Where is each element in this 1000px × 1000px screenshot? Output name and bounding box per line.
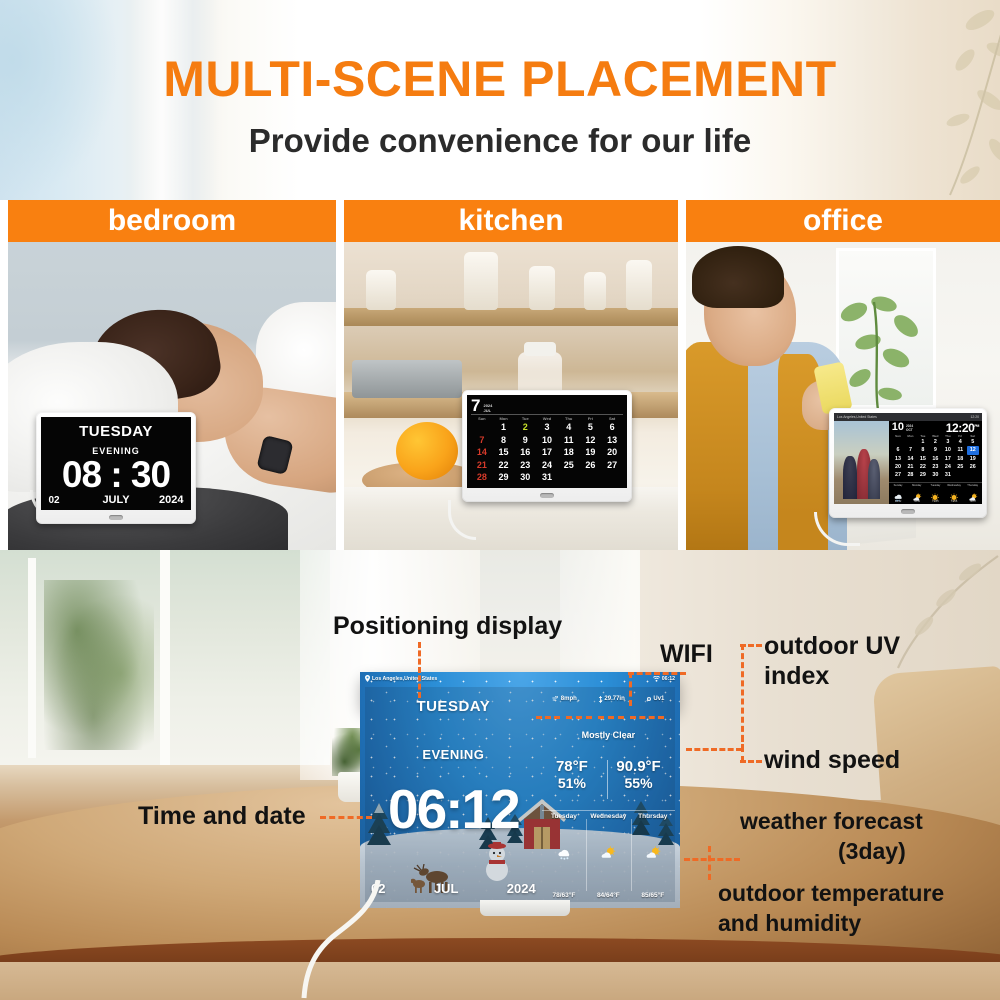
reading-indoor: 78°F 51% xyxy=(556,758,588,791)
callout-line-wind xyxy=(536,716,560,719)
office-calendar-day: 17 xyxy=(942,455,954,463)
forecast-temp: 85/65°F xyxy=(641,892,664,899)
feature-callout-scene: Los Angeles,United States 06:12 xyxy=(0,550,1000,1000)
office-calendar-day: 21 xyxy=(904,463,916,471)
device-bedroom: TUESDAY EVENING 08 : 30 02 JULY 2024 xyxy=(36,412,196,524)
office-calendar-day-empty xyxy=(967,471,979,479)
device-button[interactable] xyxy=(109,515,123,520)
annotation-outdoor-temp-humidity-line2: and humidity xyxy=(718,910,861,937)
calendar-day: 28 xyxy=(471,471,493,483)
temperature-value: 90.9°F xyxy=(616,758,660,775)
calendar-day: 14 xyxy=(471,446,493,458)
office-forecast-temp: 73/56 xyxy=(951,500,958,503)
orange-fruit xyxy=(396,422,458,480)
leader-time-date xyxy=(320,816,372,819)
forecast-day: Thursday xyxy=(638,813,667,820)
scene-photo-kitchen: 7 2024 JUL SunMonTueWedThuFriSat12345678… xyxy=(344,242,678,550)
office-photo-slideshow xyxy=(834,421,889,504)
device-office: Los Angeles,United States 12:20 xyxy=(829,408,987,518)
kitchen-calendar-screen: 7 2024 JUL SunMonTueWedThuFriSat12345678… xyxy=(467,395,627,488)
calendar-day: 11 xyxy=(558,434,580,446)
calendar-day: 24 xyxy=(536,459,558,471)
barometer-icon xyxy=(598,696,603,703)
weather-stats-row: 8mph29.77inUv1 xyxy=(542,696,675,703)
main-device: Los Angeles,United States 06:12 xyxy=(360,672,680,908)
leader-wifi-v xyxy=(629,672,632,706)
main-date-year: 2024 xyxy=(507,881,536,896)
product-infographic: MULTI-SCENE PLACEMENT Provide convenienc… xyxy=(0,0,1000,1000)
calendar-day: 22 xyxy=(493,459,515,471)
device-button[interactable] xyxy=(540,493,554,498)
office-calendar-day: 20 xyxy=(892,463,904,471)
office-calendar-day: 12 xyxy=(967,446,979,454)
office-forecast-day: Monday xyxy=(912,484,921,487)
scene-kitchen: kitchen xyxy=(344,200,678,550)
calendar-day: 7 xyxy=(471,434,493,446)
calendar-day-empty xyxy=(471,421,493,433)
scene-label-office: office xyxy=(686,200,1000,242)
scene-photo-office: Los Angeles,United States 12:20 xyxy=(686,242,1000,550)
calendar-day: 17 xyxy=(536,446,558,458)
weather-stat: Uv1 xyxy=(646,696,665,702)
device-stand xyxy=(480,900,570,916)
office-forecast-cell: Wednesday73/56 xyxy=(945,483,964,504)
main-date-month: JUL xyxy=(434,881,459,896)
scene-bedroom: bedroom TUESDAY EVENIN xyxy=(8,200,336,550)
scene-strip: bedroom TUESDAY EVENIN xyxy=(0,200,1000,550)
office-forecast-cell: Sunday68/52 xyxy=(889,483,908,504)
calendar-day: 1 xyxy=(493,421,515,433)
rain-icon xyxy=(893,489,903,498)
office-calendar-day-empty xyxy=(954,471,966,479)
temperature-value: 78°F xyxy=(556,758,588,775)
reading-divider xyxy=(607,760,608,799)
callout-line-uv xyxy=(598,716,624,719)
day-of-week: TUESDAY xyxy=(41,423,191,440)
office-calendar-day: 28 xyxy=(904,471,916,479)
weather-panel: 8mph29.77inUv1 Mostly Clear 78°F 51% 90.… xyxy=(542,687,675,902)
main-part-of-day: EVENING xyxy=(365,747,542,762)
calendar-month-number: 7 xyxy=(471,398,480,413)
office-calendar-day: 15 xyxy=(917,455,929,463)
calendar-day: 12 xyxy=(580,434,602,446)
office-forecast-cell: Monday70/54 xyxy=(907,483,926,504)
office-calendar-day: 13 xyxy=(892,455,904,463)
main-status-time: 06:12 xyxy=(662,676,675,682)
calendar-day: 2 xyxy=(514,421,536,433)
weather-stat-value: 8mph xyxy=(561,696,577,702)
power-cord xyxy=(270,880,410,1000)
location-pin-icon xyxy=(365,675,370,682)
office-calendar-day: 30 xyxy=(929,471,941,479)
date-year: 2024 xyxy=(159,494,183,506)
humidity-value: 51% xyxy=(556,775,588,791)
calendar-day: 3 xyxy=(536,421,558,433)
office-calendar-day-empty xyxy=(892,438,904,446)
leader-uv-h2 xyxy=(686,748,742,751)
calendar-day-empty xyxy=(558,471,580,483)
office-status-location: Los Angeles,United States xyxy=(837,415,877,419)
calendar-grid: SunMonTueWedThuFriSat1234567891011121314… xyxy=(471,416,623,483)
forecast-cell: Tuesday78/63°F xyxy=(542,811,586,900)
weather-stat-value: Uv1 xyxy=(653,696,664,702)
calendar-day: 15 xyxy=(493,446,515,458)
calendar-day: 9 xyxy=(514,434,536,446)
annotation-outdoor-uv-index: outdoor UV xyxy=(764,632,900,661)
weather-condition: Mostly Clear xyxy=(542,730,675,740)
device-button[interactable] xyxy=(901,509,915,514)
sun-cloud-icon xyxy=(968,489,978,498)
calendar-day-empty xyxy=(580,471,602,483)
office-forecast-temp: 68/52 xyxy=(895,500,902,503)
calendar-day: 30 xyxy=(514,471,536,483)
snow-cloud-icon xyxy=(556,846,572,865)
office-forecast-temp: 72/55 xyxy=(932,500,939,503)
annotation-positioning-display: Positioning display xyxy=(333,612,562,641)
calendar-month-name: JUL xyxy=(483,409,492,414)
office-calendar-day: 29 xyxy=(917,471,929,479)
office-calendar-day: 9 xyxy=(929,446,941,454)
office-calendar-day: 19 xyxy=(967,455,979,463)
calendar-day: 16 xyxy=(514,446,536,458)
office-calendar-day: 11 xyxy=(954,446,966,454)
calendar-day: 13 xyxy=(601,434,623,446)
sun-cloud-icon xyxy=(912,489,922,498)
hero-header: MULTI-SCENE PLACEMENT Provide convenienc… xyxy=(0,0,1000,200)
weather-stat: 8mph xyxy=(552,696,577,702)
office-forecast-row: Sunday68/52Monday70/54Tuesday72/55Wednes… xyxy=(889,482,982,504)
office-calendar-day: 23 xyxy=(929,463,941,471)
office-clock: 12:20PM xyxy=(946,423,979,433)
office-status-bar: Los Angeles,United States 12:20 xyxy=(834,413,982,421)
uv-icon xyxy=(646,696,652,702)
calendar-day: 6 xyxy=(601,421,623,433)
office-calendar-day: 24 xyxy=(942,463,954,471)
calendar-day: 20 xyxy=(601,446,623,458)
main-screen: Los Angeles,United States 06:12 xyxy=(360,672,680,908)
office-calendar-day: 4 xyxy=(954,438,966,446)
office-status-time: 12:20 xyxy=(971,415,980,419)
annotation-outdoor-temp-humidity: outdoor temperature xyxy=(718,880,944,907)
forecast-temp: 84/64°F xyxy=(597,892,620,899)
office-calendar-day: 3 xyxy=(942,438,954,446)
calendar-day: 31 xyxy=(536,471,558,483)
forecast-day: Wednesday xyxy=(590,813,626,820)
outdoor-tree xyxy=(44,580,154,750)
office-forecast-day: Thursday xyxy=(967,484,978,487)
annotation-weather-forecast-line2: (3day) xyxy=(838,838,906,865)
calendar-day: 10 xyxy=(536,434,558,446)
annotation-time-and-date: Time and date xyxy=(138,802,306,831)
sun-cloud-icon xyxy=(645,846,661,865)
time-date-panel: TUESDAY EVENING 06:12 02 JUL 2024 xyxy=(365,687,542,902)
office-calendar-day: 22 xyxy=(917,463,929,471)
office-forecast-temp: 74/57 xyxy=(969,500,976,503)
calendar-day: 8 xyxy=(493,434,515,446)
calendar-day: 18 xyxy=(558,446,580,458)
calendar-day: 27 xyxy=(601,459,623,471)
leader-temp-humidity-v xyxy=(708,846,711,880)
leader-wifi-h xyxy=(628,672,686,675)
sun-cloud-icon xyxy=(600,846,616,865)
office-calendar-day: 18 xyxy=(954,455,966,463)
office-month-number: 10 xyxy=(892,423,904,432)
clock-time: 08 : 30 xyxy=(41,456,191,493)
scene-label-kitchen: kitchen xyxy=(344,200,678,242)
forecast-day: Tuesday xyxy=(551,813,577,820)
office-forecast-cell: Thursday74/57 xyxy=(963,483,982,504)
scene-photo-bedroom: TUESDAY EVENING 08 : 30 02 JULY 2024 xyxy=(8,242,336,550)
forecast-cell: Wednesday84/64°F xyxy=(586,811,630,900)
callout-line-pressure xyxy=(566,716,592,719)
main-clock-time: 06:12 xyxy=(361,782,545,837)
calendar-day: 5 xyxy=(580,421,602,433)
office-calendar-day: 2 xyxy=(929,438,941,446)
office-calendar-day: 31 xyxy=(942,471,954,479)
office-calendar-day: 8 xyxy=(917,446,929,454)
device-kitchen: 7 2024 JUL SunMonTueWedThuFriSat12345678… xyxy=(462,390,632,502)
page-title: MULTI-SCENE PLACEMENT xyxy=(0,50,1000,108)
scene-office: office xyxy=(686,200,1000,550)
main-status-location: Los Angeles,United States xyxy=(372,676,437,682)
office-calendar-day: 10 xyxy=(942,446,954,454)
calendar-day: 23 xyxy=(514,459,536,471)
office-calendar-day: 1 xyxy=(917,438,929,446)
sun-icon xyxy=(930,489,940,498)
annotation-wifi: WIFI xyxy=(660,640,713,669)
calendar-day: 25 xyxy=(558,459,580,471)
office-display-screen: Los Angeles,United States 12:20 xyxy=(834,413,982,504)
temp-humidity-row: 78°F 51% 90.9°F 55% xyxy=(542,758,675,791)
office-calendar-day: 25 xyxy=(954,463,966,471)
main-content-panel: TUESDAY EVENING 06:12 02 JUL 2024 xyxy=(365,687,675,902)
leader-forecast-h xyxy=(684,858,740,861)
weather-stat: 29.77in xyxy=(598,696,625,703)
office-month-name: OCT xyxy=(906,429,913,433)
calendar-day: 4 xyxy=(558,421,580,433)
leader-positioning-display xyxy=(418,642,421,698)
office-forecast-cell: Tuesday72/55 xyxy=(926,483,945,504)
forecast-row: Tuesday78/63°FWednesday84/64°FThursday85… xyxy=(542,810,675,900)
office-calendar-day: 5 xyxy=(967,438,979,446)
leader-wind-v xyxy=(741,736,744,762)
floor xyxy=(0,962,1000,1000)
wifi-icon xyxy=(653,676,660,682)
office-forecast-day: Wednesday xyxy=(947,484,961,487)
office-calendar-day: 27 xyxy=(892,471,904,479)
office-forecast-day: Sunday xyxy=(894,484,903,487)
office-calendar-day: 7 xyxy=(904,446,916,454)
calendar-day: 19 xyxy=(580,446,602,458)
office-calendar-day: 26 xyxy=(967,463,979,471)
sun-icon xyxy=(949,489,959,498)
calendar-day: 29 xyxy=(493,471,515,483)
callout-line-uv-2 xyxy=(630,716,664,719)
calendar-day-empty xyxy=(601,471,623,483)
bedroom-clock-screen: TUESDAY EVENING 08 : 30 02 JULY 2024 xyxy=(41,417,191,510)
calendar-day: 21 xyxy=(471,459,493,471)
reading-outdoor: 90.9°F 55% xyxy=(616,758,660,791)
office-calendar-day: 16 xyxy=(929,455,941,463)
office-calendar-day: 14 xyxy=(904,455,916,463)
scene-label-bedroom: bedroom xyxy=(8,200,336,242)
forecast-temp: 78/63°F xyxy=(553,892,576,899)
calendar-day: 26 xyxy=(580,459,602,471)
main-day-of-week: TUESDAY xyxy=(365,698,542,715)
annotation-wind-speed: wind speed xyxy=(764,746,900,775)
office-calendar-day-empty xyxy=(904,438,916,446)
page-subtitle: Provide convenience for our life xyxy=(0,122,1000,160)
humidity-value: 55% xyxy=(616,775,660,791)
annotation-weather-forecast: weather forecast xyxy=(740,808,923,835)
office-forecast-temp: 70/54 xyxy=(913,500,920,503)
wind-icon xyxy=(552,696,559,702)
office-calendar-grid: SunMonTueWedThuFriSat1234567891011121314… xyxy=(892,434,979,479)
forecast-cell: Thursday85/65°F xyxy=(631,811,675,900)
office-forecast-day: Tuesday xyxy=(930,484,940,487)
weather-stat-value: 29.77in xyxy=(604,696,624,702)
leader-uv-v xyxy=(741,644,744,750)
annotation-outdoor-uv-index-line2: index xyxy=(764,662,829,691)
office-calendar-day: 6 xyxy=(892,446,904,454)
